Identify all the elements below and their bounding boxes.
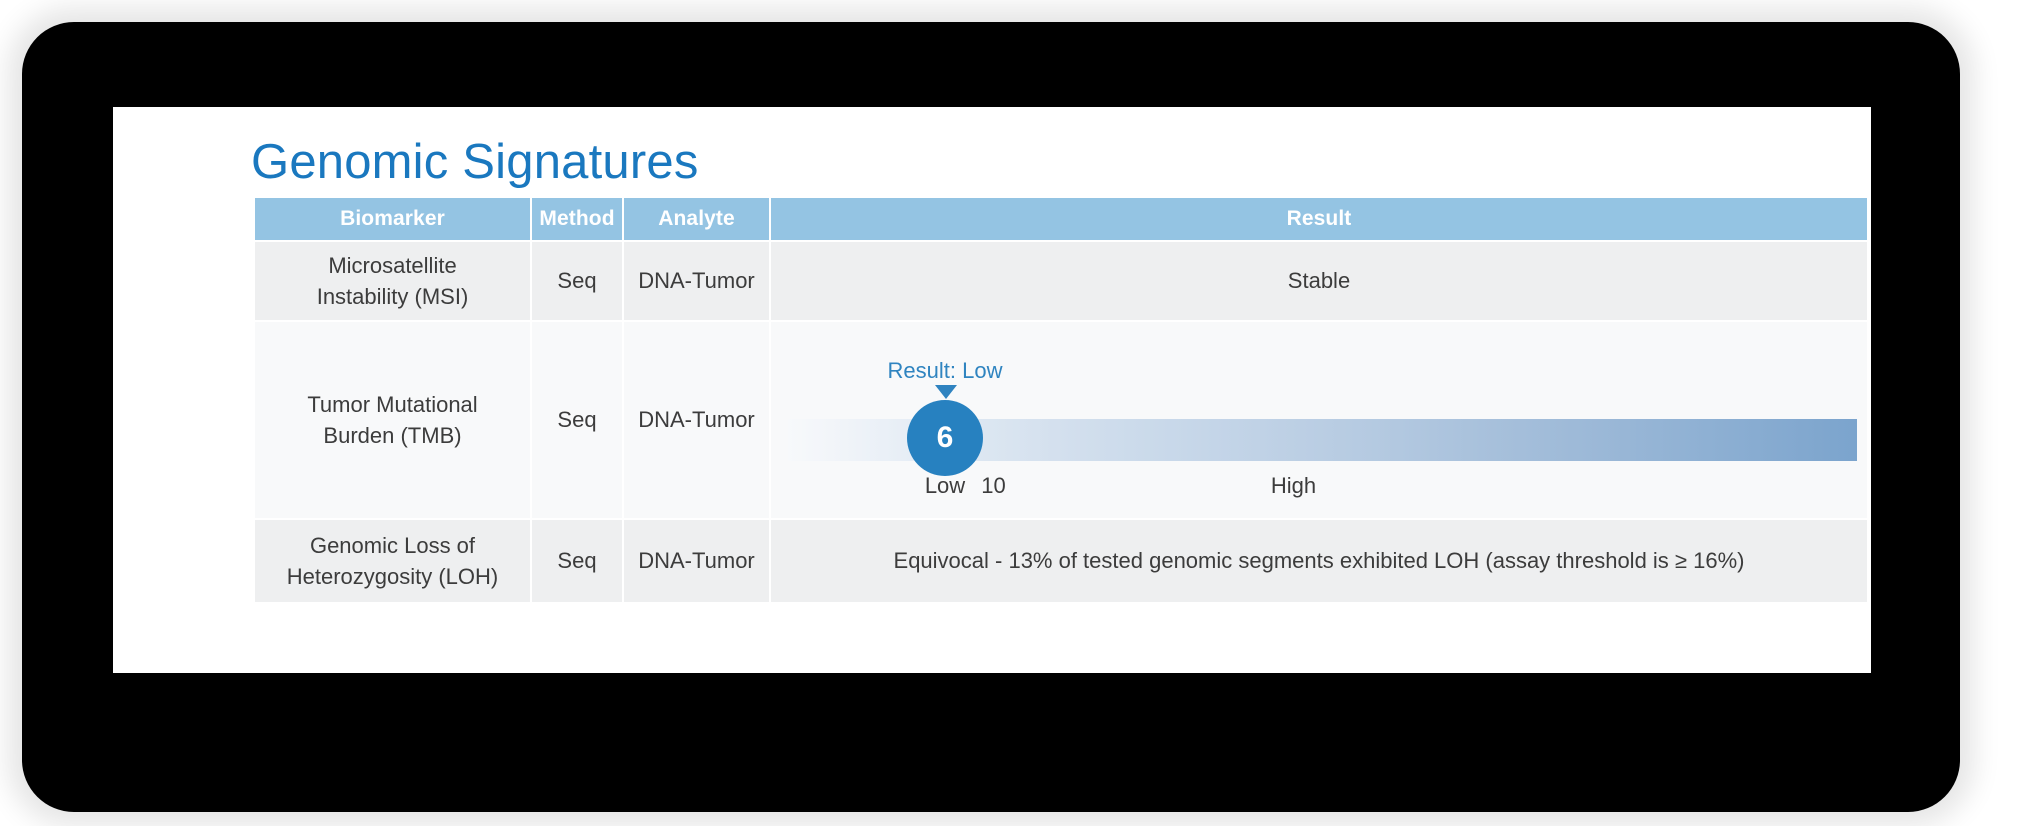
cell-result-loh: Equivocal - 13% of tested genomic segmen… (771, 520, 1867, 602)
tmb-scale-labels: Low 10 High (771, 470, 1867, 504)
biomarker-name-line2: Heterozygosity (LOH) (287, 564, 499, 589)
triangle-down-icon (935, 385, 957, 399)
table-row: Microsatellite Instability (MSI) Seq DNA… (255, 242, 1867, 320)
cell-method-tmb: Seq (532, 322, 622, 518)
cell-analyte-msi: DNA-Tumor (624, 242, 769, 320)
column-header-biomarker: Biomarker (255, 198, 530, 240)
cell-method-loh: Seq (532, 520, 622, 602)
cell-analyte-loh: DNA-Tumor (624, 520, 769, 602)
column-header-result: Result (771, 198, 1867, 240)
tmb-scale-label-threshold: 10 (896, 470, 1091, 501)
table-header: Biomarker Method Analyte Result (255, 198, 1867, 240)
cell-method-msi: Seq (532, 242, 622, 320)
biomarker-name-line1: Genomic Loss of (310, 533, 475, 558)
genomic-signatures-table: Biomarker Method Analyte Result Microsat… (253, 196, 1869, 604)
cell-analyte-tmb: DNA-Tumor (624, 322, 769, 518)
tmb-gauge-chart: Result: Low 6 Low 10 High (771, 322, 1867, 518)
tablet-screen: Genomic Signatures Biomarker Method Anal… (113, 107, 1871, 673)
page-title: Genomic Signatures (251, 134, 699, 190)
biomarker-name-line2: Instability (MSI) (317, 284, 469, 309)
tmb-value-marker: 6 (907, 400, 983, 476)
genomic-signatures-report: Genomic Signatures Biomarker Method Anal… (138, 112, 1850, 668)
table-row: Tumor Mutational Burden (TMB) Seq DNA-Tu… (255, 322, 1867, 518)
biomarker-name-line1: Microsatellite (328, 253, 456, 278)
tmb-callout-label: Result: Low (839, 355, 1051, 386)
cell-biomarker-msi: Microsatellite Instability (MSI) (255, 242, 530, 320)
cell-result-tmb: Result: Low 6 Low 10 High (771, 322, 1867, 518)
table-row: Genomic Loss of Heterozygosity (LOH) Seq… (255, 520, 1867, 602)
table-body: Microsatellite Instability (MSI) Seq DNA… (255, 242, 1867, 602)
column-header-analyte: Analyte (624, 198, 769, 240)
cell-biomarker-tmb: Tumor Mutational Burden (TMB) (255, 322, 530, 518)
biomarker-name-line2: Burden (TMB) (323, 423, 461, 448)
column-header-method: Method (532, 198, 622, 240)
biomarker-name-line1: Tumor Mutational (307, 392, 477, 417)
cell-biomarker-loh: Genomic Loss of Heterozygosity (LOH) (255, 520, 530, 602)
tmb-scale-label-high: High (1191, 470, 1396, 501)
table-header-row: Biomarker Method Analyte Result (255, 198, 1867, 240)
cell-result-msi: Stable (771, 242, 1867, 320)
